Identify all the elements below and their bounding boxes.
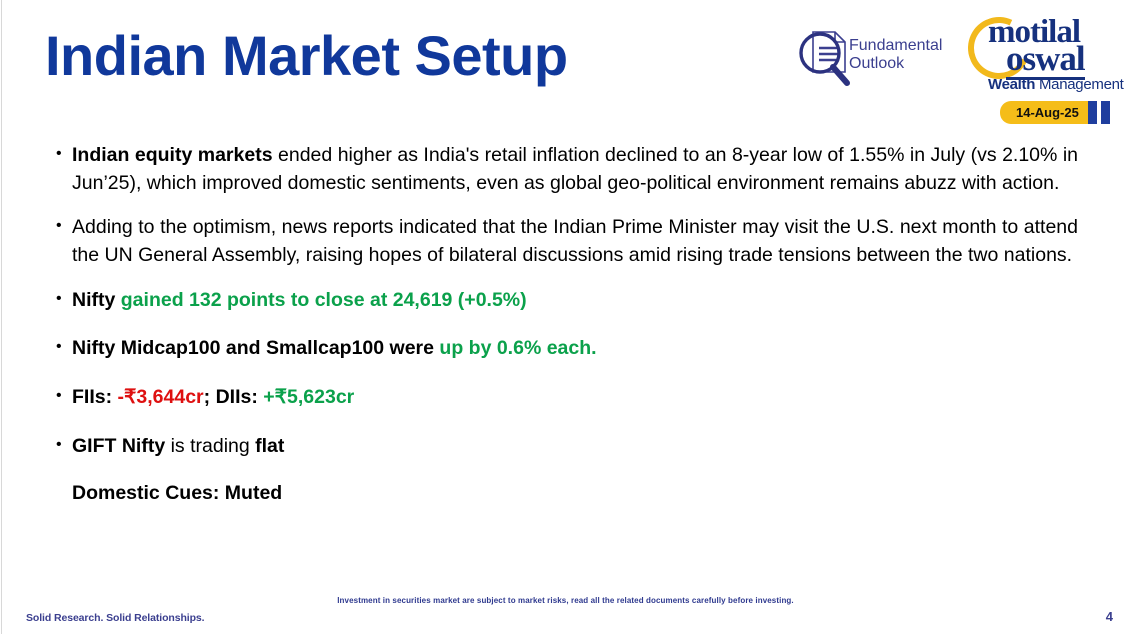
- brand-tagline: Wealth Management: [988, 76, 1124, 93]
- bullet-item-optimism: • Adding to the optimism, news reports i…: [56, 214, 1078, 269]
- broader-label: Nifty Midcap100 and Smallcap100 were: [72, 337, 434, 359]
- domestic-cues-line: Domestic Cues: Muted: [72, 482, 1078, 505]
- brand-tagline-light: Management: [1035, 76, 1123, 93]
- fundamental-outlook-label: Fundamental Outlook: [849, 37, 942, 73]
- bullet-dot-icon: •: [56, 335, 72, 360]
- bullet-item-nifty: • Nifty gained 132 points to close at 24…: [56, 287, 1078, 315]
- bullet-dot-icon: •: [56, 287, 72, 312]
- slide-left-edge-rule: [1, 0, 2, 634]
- bullet-item-flows: • FIIs: -₹3,644cr; DIIs: +₹5,623cr: [56, 384, 1078, 412]
- flows-separator: ; DIIs:: [204, 386, 264, 408]
- bullet-lead-bold: Indian equity markets: [72, 144, 273, 166]
- fo-line-1: Fundamental: [849, 37, 942, 55]
- fundamental-outlook-logo: Fundamental Outlook: [795, 28, 945, 90]
- fii-label: FIIs:: [72, 386, 118, 408]
- dii-value: +₹5,623cr: [263, 386, 354, 408]
- bullet-text: FIIs: -₹3,644cr; DIIs: +₹5,623cr: [72, 384, 1078, 412]
- page-number: 4: [1106, 609, 1113, 624]
- nifty-value: gained 132 points to close at 24,619 (+0…: [121, 289, 527, 311]
- bullet-list: • Indian equity markets ended higher as …: [56, 142, 1078, 505]
- gift-label: GIFT Nifty: [72, 435, 165, 457]
- fo-line-2: Outlook: [849, 55, 942, 73]
- date-badge-bar-1: [1088, 101, 1097, 124]
- bullet-text: GIFT Nifty is trading flat: [72, 433, 1078, 461]
- fii-value: -₹3,644cr: [118, 386, 204, 408]
- brand-word-oswal: oswal: [1006, 41, 1085, 80]
- date-badge-bar-2: [1101, 101, 1110, 124]
- brand-tagline-bold: Wealth: [988, 76, 1035, 93]
- motilal-oswal-logo: motilal oswal Wealth Management: [968, 14, 1126, 96]
- bullet-text: Nifty Midcap100 and Smallcap100 were up …: [72, 335, 1078, 363]
- gift-mid: is trading: [165, 435, 255, 457]
- bullet-item-broader-indices: • Nifty Midcap100 and Smallcap100 were u…: [56, 335, 1078, 363]
- bullet-text: Indian equity markets ended higher as In…: [72, 142, 1078, 197]
- footer-tagline: Solid Research. Solid Relationships.: [26, 612, 204, 624]
- date-badge: 14-Aug-25: [1000, 101, 1110, 124]
- bullet-dot-icon: •: [56, 433, 72, 458]
- bullet-text: Adding to the optimism, news reports ind…: [72, 214, 1078, 269]
- bullet-text: Nifty gained 132 points to close at 24,6…: [72, 287, 1078, 315]
- bullet-dot-icon: •: [56, 142, 72, 167]
- nifty-label: Nifty: [72, 289, 115, 311]
- broader-value: up by 0.6% each.: [439, 337, 596, 359]
- footer-disclaimer: Investment in securities market are subj…: [0, 596, 1131, 605]
- bullet-item-gift-nifty: • GIFT Nifty is trading flat: [56, 433, 1078, 461]
- bullet-item-equity-markets: • Indian equity markets ended higher as …: [56, 142, 1078, 197]
- bullet-dot-icon: •: [56, 214, 72, 239]
- date-badge-label: 14-Aug-25: [1000, 101, 1088, 124]
- slide-canvas: Indian Market Setup Fundamental Outlook …: [0, 0, 1131, 634]
- page-title: Indian Market Setup: [45, 27, 568, 86]
- gift-value: flat: [255, 435, 284, 457]
- bullet-dot-icon: •: [56, 384, 72, 409]
